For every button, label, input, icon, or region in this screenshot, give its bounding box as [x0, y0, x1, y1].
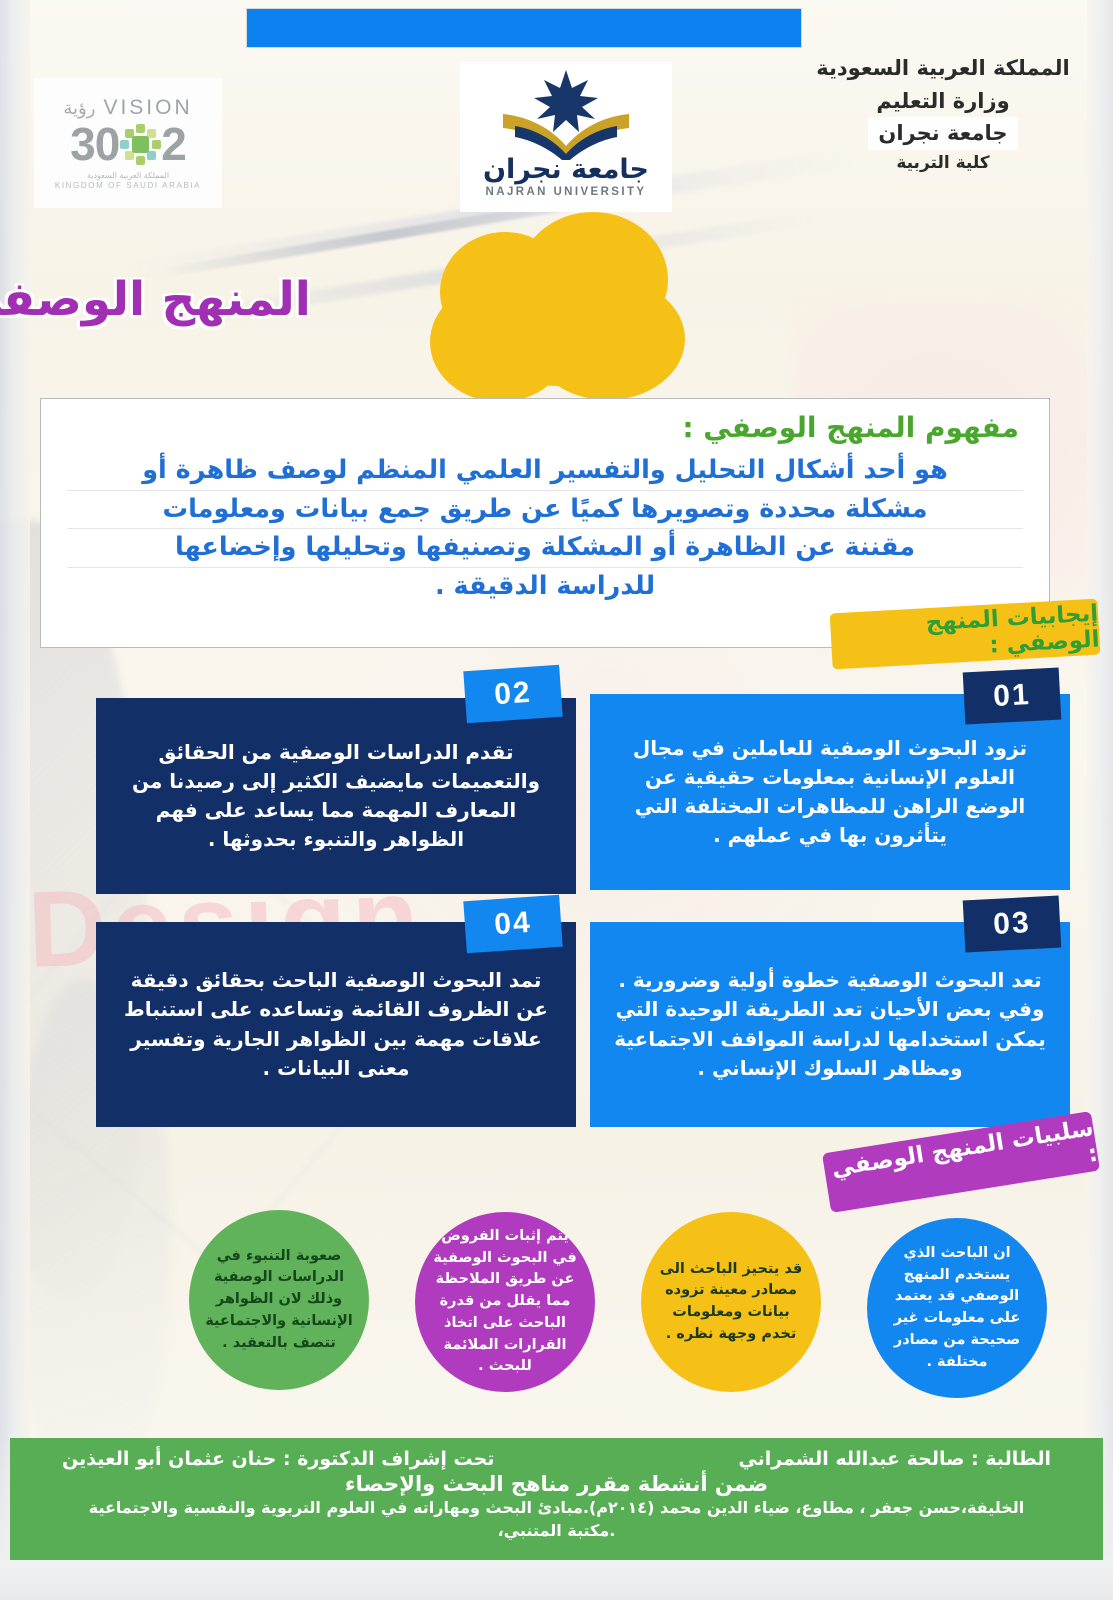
ministry-header: المملكة العربية السعودية وزارة التعليم ج…: [793, 52, 1093, 176]
vision-emblem-icon: [120, 124, 160, 164]
title-blob-group: [430, 212, 690, 397]
ministry-line-university-wrap: جامعة نجران: [793, 117, 1093, 150]
ministry-line-ministry: وزارة التعليم: [793, 85, 1093, 118]
ministry-line-college: كلية التربية: [793, 150, 1093, 176]
negatives-circle-3: يتم إثبات الفروض في البحوث الوصفية عن طر…: [415, 1212, 595, 1392]
footer-credits-row: الطالبة : صالحة عبدالله الشمراني تحت إشر…: [40, 1448, 1073, 1470]
footer-reference-line-2: .مكتبة المتنبي،: [40, 1520, 1073, 1542]
definition-line-3: مقننة عن الظاهرة أو المشكلة وتصنيفها وتح…: [67, 529, 1023, 568]
definition-line-2: مشكلة محددة وتصويرها كميًا عن طريق جمع ب…: [67, 491, 1023, 530]
footer-course: ضمن أنشطة مقرر مناهج البحث والإحصاء: [40, 1472, 1073, 1496]
positives-card-02-text: تقدم الدراسات الوصفية من الحقائق والتعمي…: [118, 738, 554, 855]
positives-card-03-text: تعد البحوث الوصفية خطوة أولية وضرورية . …: [612, 966, 1048, 1083]
vision-year-right: 30: [70, 121, 119, 167]
definition-heading: مفهوم المنهج الوصفي :: [67, 411, 1019, 444]
positives-card-01: تزود البحوث الوصفية للعاملين في مجال الع…: [590, 694, 1070, 890]
card-number-03: 03: [963, 896, 1062, 953]
positives-card-01-text: تزود البحوث الوصفية للعاملين في مجال الع…: [612, 734, 1048, 851]
definition-line-4: للدراسة الدقيقة .: [67, 568, 1023, 606]
card-number-04: 04: [463, 895, 562, 954]
negatives-circle-4: صعوبة التنبوء في الدراسات الوصفية وذلك ل…: [189, 1210, 369, 1390]
footer-reference-line-1: الخليفة،حسن جعفر ، مطاوع، ضياء الدين محم…: [40, 1497, 1073, 1519]
najran-university-logo: جامعة نجران NAJRAN UNIVERSITY: [460, 62, 672, 212]
najran-star-book-icon: [491, 68, 641, 160]
negatives-circle-2-text: قد يتحيز الباحث الى مصادر معينة تزوده بي…: [641, 1259, 821, 1346]
footer-supervisor: تحت إشراف الدكتورة : حنان عثمان أبو العي…: [62, 1448, 494, 1470]
vision-2030-logo: VISION رؤية 2 30 المملكة العربية السعودي…: [34, 78, 222, 208]
footer-student: الطالبة : صالحة عبدالله الشمراني: [738, 1448, 1051, 1470]
vision-text-en: VISION: [103, 96, 192, 120]
definition-body: هو أحد أشكال التحليل والتفسير العلمي الم…: [67, 452, 1023, 606]
ministry-line-university: جامعة نجران: [868, 117, 1017, 150]
top-blue-bar: [246, 8, 802, 48]
page-title: المنهج الوصفي: [0, 272, 363, 327]
negatives-circle-1: ان الباحث الذي يستخدم المنهج الوصفي قد ي…: [867, 1218, 1047, 1398]
background-left-strip: [0, 0, 30, 1600]
card-number-02: 02: [463, 665, 562, 724]
positives-card-04: تمد البحوث الوصفية الباحث بحقائق دقيقة ع…: [96, 922, 576, 1127]
vision-year-left: 2: [161, 121, 186, 167]
negatives-circle-1-text: ان الباحث الذي يستخدم المنهج الوصفي قد ي…: [867, 1243, 1047, 1374]
vision-wordmark: VISION رؤية: [63, 96, 192, 120]
negatives-circle-2: قد يتحيز الباحث الى مصادر معينة تزوده بي…: [641, 1212, 821, 1392]
positives-card-03: تعد البحوث الوصفية خطوة أولية وضرورية . …: [590, 922, 1070, 1127]
infographic-page: Design VISION رؤية 2 30 المملكة ال: [0, 0, 1113, 1600]
najran-logo-english: NAJRAN UNIVERSITY: [486, 186, 647, 198]
positives-card-02: تقدم الدراسات الوصفية من الحقائق والتعمي…: [96, 698, 576, 894]
background-right-strip: [1087, 0, 1113, 1600]
ministry-line-kingdom: المملكة العربية السعودية: [793, 52, 1093, 85]
definition-line-1: هو أحد أشكال التحليل والتفسير العلمي الم…: [67, 452, 1023, 491]
najran-logo-arabic: جامعة نجران: [483, 156, 649, 183]
negatives-circle-4-text: صعوبة التنبوء في الدراسات الوصفية وذلك ل…: [189, 1246, 369, 1355]
vision-year: 2 30: [70, 121, 186, 167]
vision-kingdom-ar: المملكة العربية السعودية: [87, 171, 169, 180]
positives-card-04-text: تمد البحوث الوصفية الباحث بحقائق دقيقة ع…: [118, 966, 554, 1083]
vision-kingdom-en: KINGDOM OF SAUDI ARABIA: [55, 181, 201, 190]
negatives-circle-3-text: يتم إثبات الفروض في البحوث الوصفية عن طر…: [415, 1226, 595, 1378]
vision-text-ar: رؤية: [63, 98, 95, 119]
footer: الطالبة : صالحة عبدالله الشمراني تحت إشر…: [10, 1438, 1103, 1560]
card-number-01: 01: [963, 668, 1062, 725]
